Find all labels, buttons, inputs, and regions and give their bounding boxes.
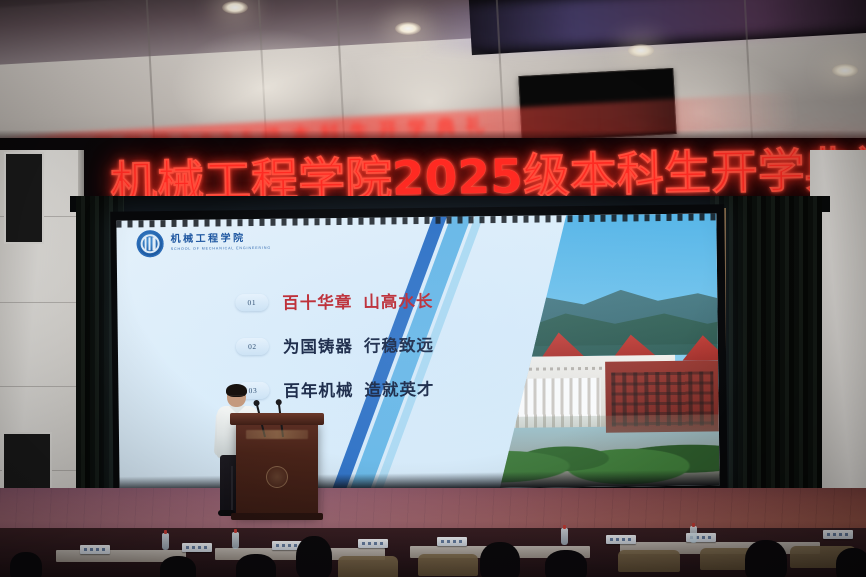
podium-top — [230, 413, 324, 425]
downlight-icon — [395, 22, 421, 35]
downlight-icon — [222, 1, 248, 14]
podium-emblem-icon — [266, 466, 288, 488]
agenda-part1: 百十华章 — [282, 293, 352, 313]
podium-base — [231, 513, 323, 520]
name-card — [80, 545, 110, 554]
speaker-leg-split — [231, 466, 233, 512]
agenda-part2: 山高水长 — [363, 292, 433, 312]
downlight-icon — [628, 44, 654, 57]
downlight-icon — [832, 64, 858, 77]
audience-chair — [338, 556, 398, 577]
audience-person — [480, 542, 520, 577]
podium — [236, 420, 318, 515]
projection-screen: 机械工程学院 SCHOOL OF MECHANICAL ENGINEERING … — [116, 213, 719, 492]
agenda-part1: 百年机械 — [283, 381, 353, 401]
wall-seam — [0, 302, 84, 303]
podium-nameplate — [246, 430, 308, 439]
slide-logo: 机械工程学院 SCHOOL OF MECHANICAL ENGINEERING — [136, 229, 271, 258]
list-item: 02 为国铸器行稳致远 — [236, 331, 434, 359]
agenda-part2: 造就英才 — [364, 380, 434, 400]
audience-person — [160, 556, 196, 577]
agenda-text: 为国铸器行稳致远 — [283, 332, 434, 358]
glasses-icon — [229, 395, 245, 399]
water-bottle — [162, 533, 169, 550]
agenda-part2: 行稳致远 — [364, 336, 434, 356]
water-bottle — [690, 526, 697, 543]
audience-foreground — [0, 528, 866, 577]
slide-agenda-list: 01 百十华章山高水长 02 为国铸器行稳致远 03 百年机械造就英才 — [235, 287, 435, 421]
agenda-text: 百年机械造就英才 — [283, 376, 434, 402]
agenda-badge: 01 — [235, 293, 268, 310]
name-card — [606, 535, 636, 544]
audience-chair — [618, 550, 680, 572]
name-card — [358, 539, 388, 548]
audience-person — [545, 550, 587, 577]
gear-emblem-icon — [136, 230, 163, 257]
slide-logo-cn: 机械工程学院 — [171, 234, 272, 246]
wall-speaker-panel — [4, 152, 44, 244]
projection-screen-frame: 机械工程学院 SCHOOL OF MECHANICAL ENGINEERING … — [110, 204, 728, 503]
audience-person — [236, 554, 276, 577]
agenda-badge: 02 — [236, 337, 269, 354]
name-card — [437, 537, 467, 546]
auditorium-scene: 机械工程学院2025级本科生开学典礼 机械工程学院2025级本科生开学典礼 — [0, 0, 866, 577]
audience-person — [836, 548, 866, 577]
list-item: 01 百十华章山高水长 — [235, 287, 433, 315]
wall-seam — [0, 386, 84, 387]
water-bottle — [232, 532, 239, 549]
agenda-text: 百十华章山高水长 — [282, 288, 433, 314]
water-bottle — [561, 528, 568, 545]
slide-logo-en: SCHOOL OF MECHANICAL ENGINEERING — [171, 247, 271, 252]
name-card — [823, 530, 853, 539]
slide-logo-text: 机械工程学院 SCHOOL OF MECHANICAL ENGINEERING — [171, 234, 272, 251]
agenda-part1: 为国铸器 — [283, 337, 353, 357]
audience-chair — [418, 554, 478, 576]
slide-campus-photo — [448, 213, 719, 488]
list-item: 03 百年机械造就英才 — [236, 375, 434, 403]
audience-person — [10, 552, 42, 577]
audience-person — [745, 540, 787, 577]
audience-person — [296, 536, 332, 577]
name-card — [182, 543, 212, 552]
